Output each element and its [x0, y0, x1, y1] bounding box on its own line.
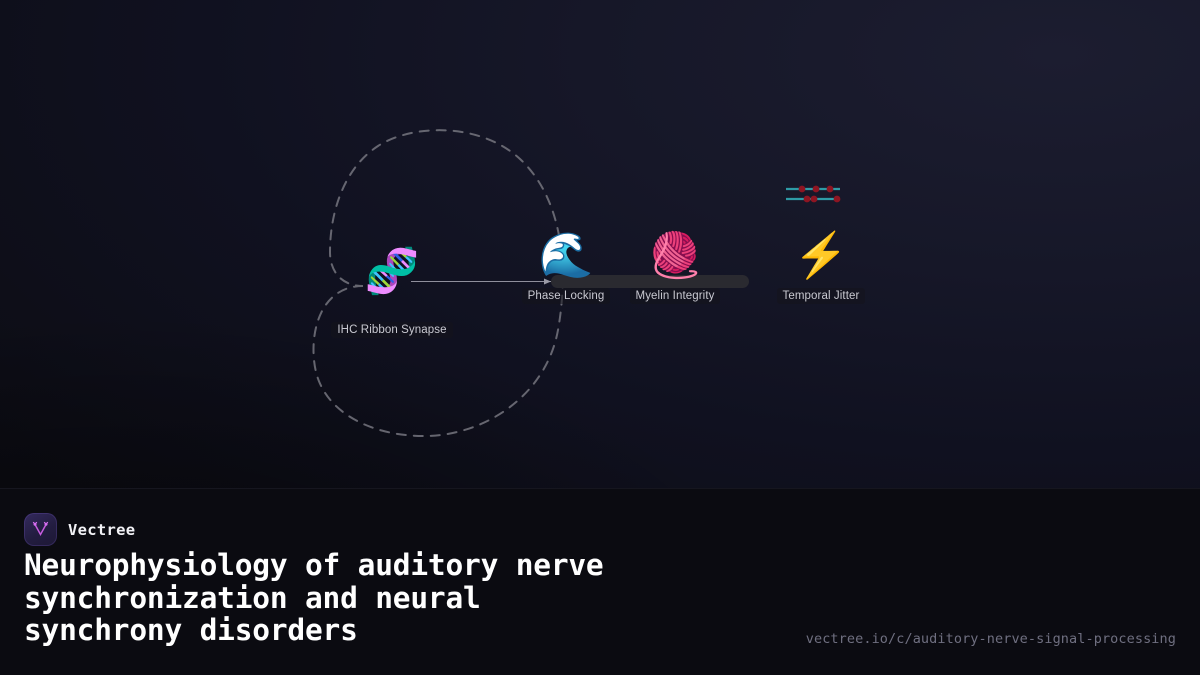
graph-node-label: IHC Ribbon Synapse — [331, 322, 452, 338]
graph-node-temporal-jitter[interactable]: ⚡ Temporal Jitter — [741, 232, 901, 304]
graph-node-label: Myelin Integrity — [630, 288, 721, 304]
brand-name: Vectree — [68, 521, 135, 539]
dna-icon: 🧬 — [365, 248, 420, 296]
spike-raster-glyph — [785, 183, 841, 205]
graph-node-ihc-ribbon-synapse[interactable]: 🧬 IHC Ribbon Synapse — [312, 248, 472, 338]
brand[interactable]: Vectree — [24, 513, 135, 546]
graph-node-label: Temporal Jitter — [777, 288, 866, 304]
footer-url: vectree.io/c/auditory-nerve-signal-proce… — [806, 631, 1176, 647]
footer-bar: Vectree Neurophysiology of auditory nerv… — [0, 488, 1200, 675]
high-voltage-icon: ⚡ — [794, 232, 849, 280]
water-wave-icon: 🌊 — [539, 232, 594, 280]
graph-node-myelin-integrity[interactable]: 🧶 Myelin Integrity — [595, 232, 755, 304]
vectree-logo-icon — [24, 513, 57, 546]
yarn-icon: 🧶 — [648, 232, 703, 280]
page-title: Neurophysiology of auditory nerve synchr… — [24, 549, 784, 647]
